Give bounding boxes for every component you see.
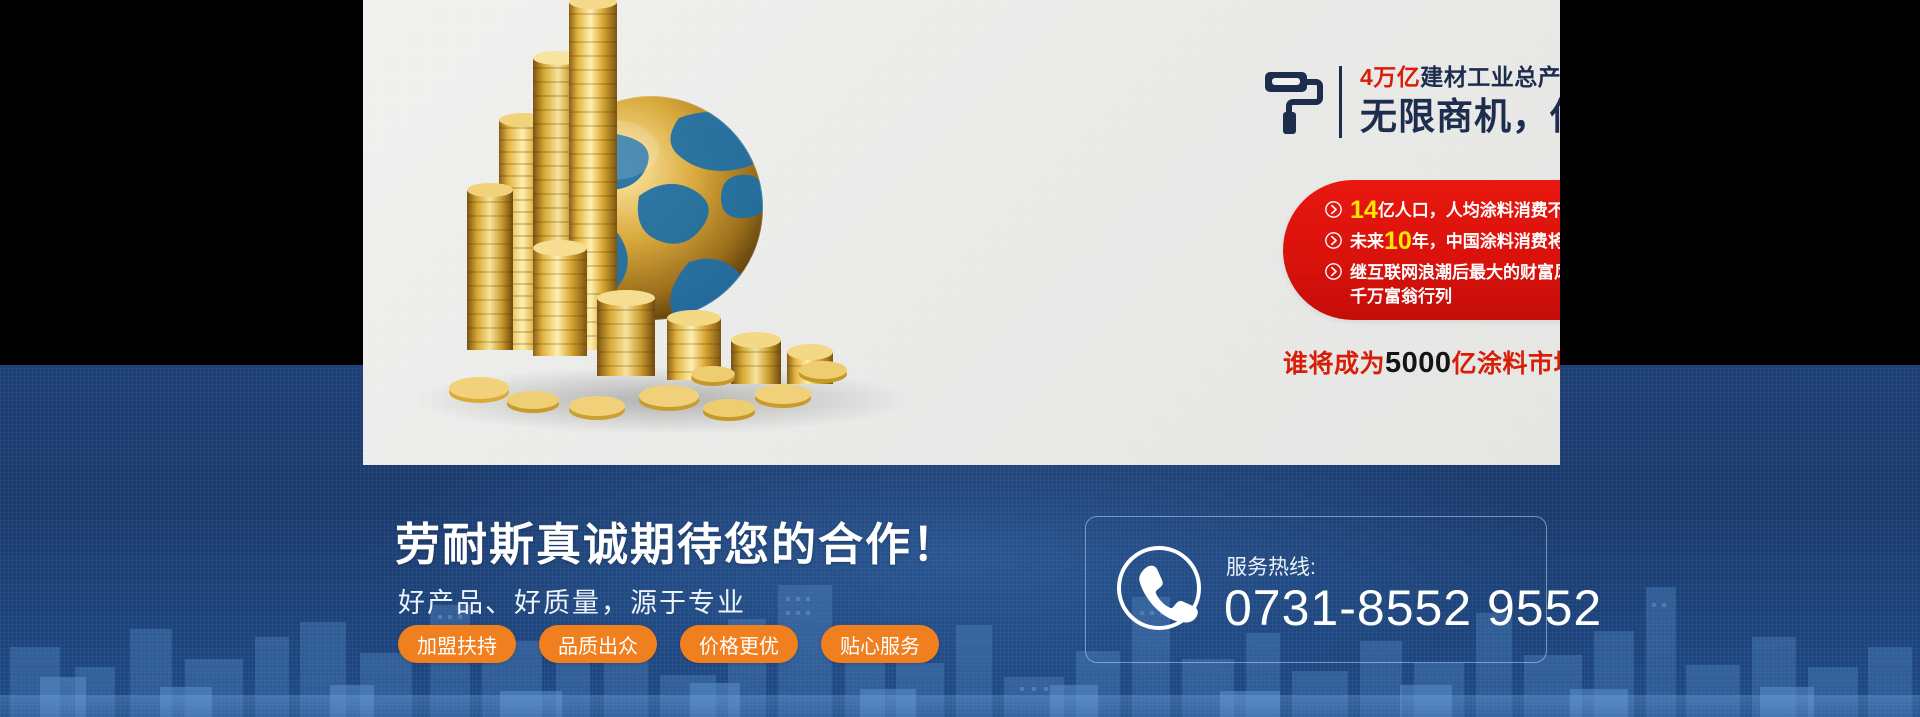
- chevron-circle-right-icon: [1325, 263, 1342, 280]
- callout-text-3a: 继互联网浪潮后最大的财富风景，将带动: [1350, 263, 1560, 282]
- list-item: 14亿人口，人均涂料消费不到3kg，远低于世界水平: [1325, 198, 1560, 223]
- pill-join-support[interactable]: 加盟扶持: [398, 625, 516, 663]
- chevron-circle-right-icon: [1325, 232, 1342, 249]
- promo-banner: 4万亿建材工业总产值，千亿涂料市场需求 无限商机，你准备好了吗？ 14亿人口，人…: [0, 0, 1920, 717]
- coins-and-globe-illustration: [383, 0, 943, 465]
- callout-text-1a: 亿人口，人均涂料消费不到: [1378, 201, 1560, 220]
- headline-text-1: 建材工业总产值，: [1420, 64, 1560, 90]
- callout-bullet-list: 14亿人口，人均涂料消费不到3kg，远低于世界水平 未来10年，中国涂料消费将以…: [1283, 180, 1560, 309]
- callout-text-2b: 年，中国涂料消费将以每年: [1412, 232, 1560, 251]
- hotline-number[interactable]: 0731-8552 9552: [1224, 579, 1602, 637]
- phone-circle-icon: [1116, 545, 1202, 631]
- contact-hotline-card[interactable]: 服务热线: 0731-8552 9552: [1085, 516, 1547, 663]
- chevron-circle-right-icon: [1325, 201, 1342, 218]
- feature-pill-group: 加盟扶持 品质出众 价格更优 贴心服务: [398, 625, 939, 663]
- callout-text-3c: 千万富翁行列: [1350, 287, 1452, 306]
- headline-line-2: 无限商机，你准备好了吗？: [1360, 94, 1560, 140]
- hero-panel: 4万亿建材工业总产值，千亿涂料市场需求 无限商机，你准备好了吗？ 14亿人口，人…: [363, 0, 1560, 465]
- headline-stat-1: 4万亿: [1360, 64, 1420, 90]
- pill-quality[interactable]: 品质出众: [539, 625, 657, 663]
- hotline-label: 服务热线:: [1226, 551, 1316, 581]
- footer-subslogan: 好产品、好质量，源于专业: [398, 581, 746, 620]
- callout-stat-14: 14: [1350, 196, 1378, 224]
- hero-strapline: 谁将成为5000亿涂料市场的掌控者，翘首以待！: [1283, 344, 1560, 380]
- black-bar-right: [1560, 0, 1920, 365]
- callout-text-2a: 未来: [1350, 232, 1384, 251]
- footer-slogan: 劳耐斯真诚期待您的合作！: [395, 508, 959, 573]
- headline-divider: [1339, 66, 1342, 138]
- callout-stat-10: 10: [1384, 227, 1412, 255]
- pill-service[interactable]: 贴心服务: [821, 625, 939, 663]
- city-skyline-silhouette: [0, 567, 1920, 717]
- paint-roller-icon: [1263, 66, 1325, 138]
- list-item: 未来10年，中国涂料消费将以每年25%的速度增长 空间巨大: [1325, 229, 1560, 254]
- strapline-number: 5000: [1385, 347, 1452, 379]
- list-item: 继互联网浪潮后最大的财富风景，将带动40万创业者迈入千万富翁行列: [1325, 260, 1560, 309]
- red-callout-box: 14亿人口，人均涂料消费不到3kg，远低于世界水平 未来10年，中国涂料消费将以…: [1283, 180, 1560, 320]
- headline-line-1: 4万亿建材工业总产值，千亿涂料市场需求: [1360, 62, 1560, 92]
- skyline-ground: [0, 695, 1920, 717]
- pill-price[interactable]: 价格更优: [680, 625, 798, 663]
- strapline-part-2: 亿涂料市场的掌控者，翘首以待！: [1452, 350, 1560, 378]
- hero-headline: 4万亿建材工业总产值，千亿涂料市场需求 无限商机，你准备好了吗？: [1263, 62, 1560, 140]
- strapline-part-1: 谁将成为: [1283, 350, 1385, 378]
- black-bar-left: [0, 0, 363, 365]
